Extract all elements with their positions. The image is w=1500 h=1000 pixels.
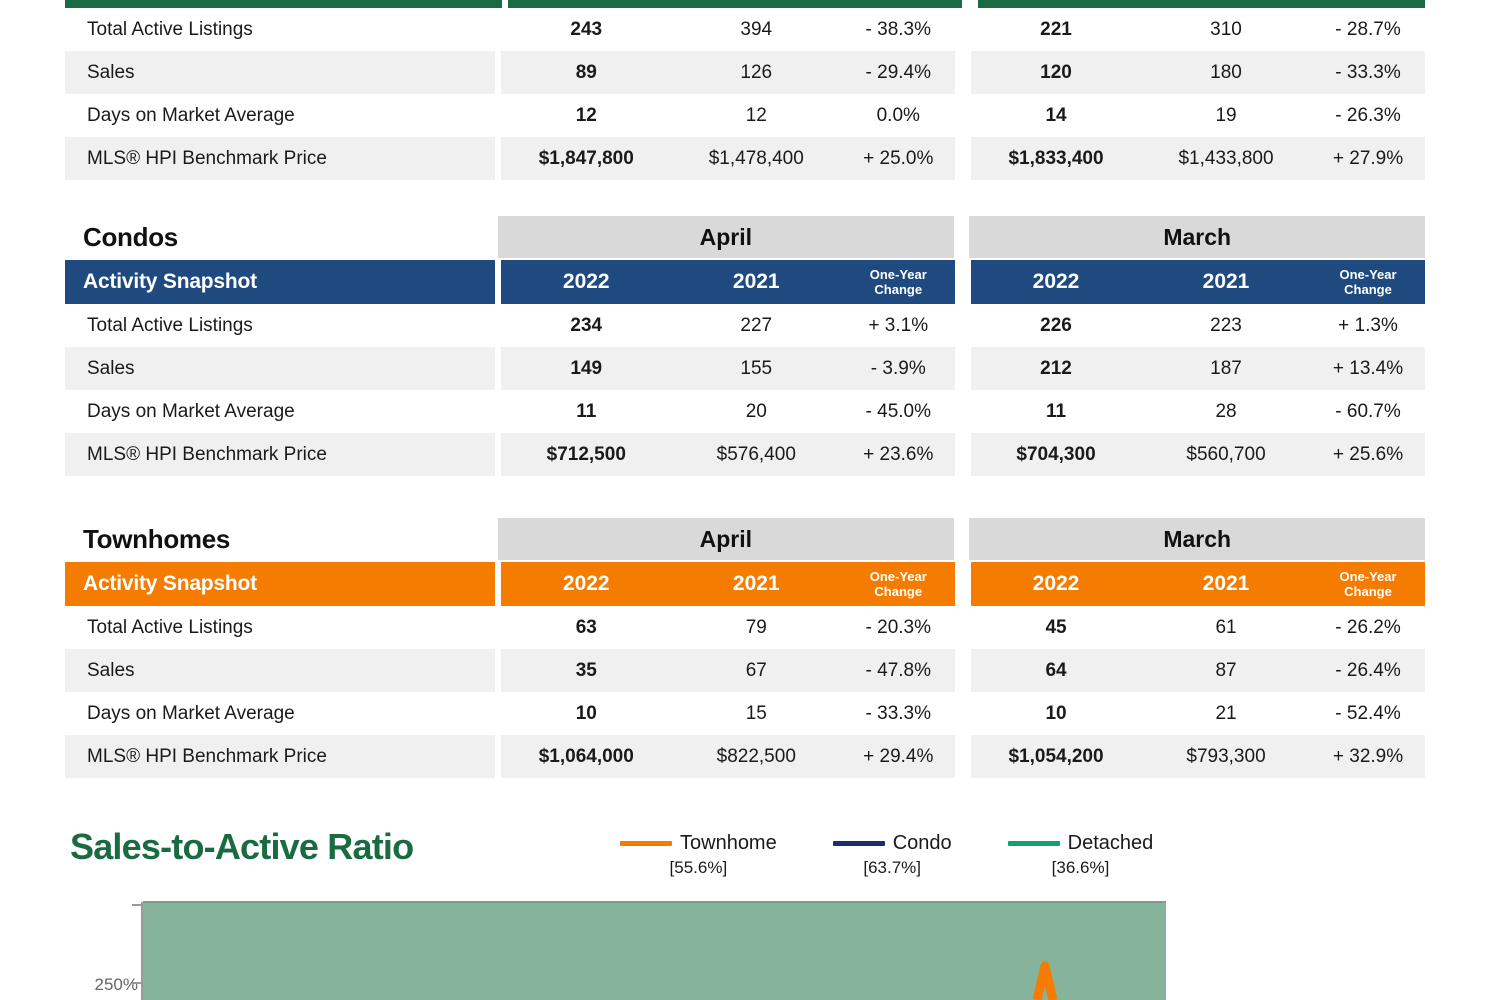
header-year-current: 2022 (971, 562, 1141, 606)
cell-current: 45 (971, 606, 1141, 649)
cell-prior: $560,700 (1141, 433, 1311, 476)
header-year-current: 2022 (501, 562, 671, 606)
table-row: MLS® HPI Benchmark Price $1,847,800 $1,4… (65, 137, 1425, 180)
table-row: Total Active Listings 243 394 - 38.3% 22… (65, 8, 1425, 51)
change-line-2: Change (874, 282, 922, 297)
cell-current: $1,833,400 (971, 137, 1141, 180)
legend-label: Townhome (680, 832, 777, 855)
cell-change: + 3.1% (841, 304, 955, 347)
row-metric-label: Total Active Listings (65, 8, 495, 51)
cell-change: - 26.4% (1311, 649, 1425, 692)
cell-current: 14 (971, 94, 1141, 137)
cell-current: 149 (501, 347, 671, 390)
cell-change: + 32.9% (1311, 735, 1425, 778)
table-mid-gap (955, 137, 971, 180)
cell-prior: 227 (671, 304, 841, 347)
april-cells: 234 227 + 3.1% (501, 304, 955, 347)
march-cells: $1,833,400 $1,433,800 + 27.9% (971, 137, 1425, 180)
table-mid-gap (955, 347, 971, 390)
cell-prior: 310 (1141, 8, 1311, 51)
cell-current: 11 (971, 390, 1141, 433)
march-header-cells: 2022 2021 One-Year Change (971, 562, 1425, 606)
chart-title: Sales-to-Active Ratio (70, 826, 413, 868)
row-metric-label: Days on Market Average (65, 94, 495, 137)
cell-prior: 87 (1141, 649, 1311, 692)
april-cells: 243 394 - 38.3% (501, 8, 955, 51)
table-row: Days on Market Average 10 15 - 33.3% 10 … (65, 692, 1425, 735)
area-fill-detached (143, 902, 1166, 1000)
cell-current: 35 (501, 649, 671, 692)
cell-prior: $793,300 (1141, 735, 1311, 778)
march-cells: $1,054,200 $793,300 + 32.9% (971, 735, 1425, 778)
april-cells: $712,500 $576,400 + 23.6% (501, 433, 955, 476)
header-change: One-Year Change (841, 562, 955, 606)
cell-current: 64 (971, 649, 1141, 692)
legend-value: [55.6%] (670, 858, 728, 878)
table-row: Total Active Listings 234 227 + 3.1% 226… (65, 304, 1425, 347)
chart-plot-area: 250% 200% (0, 890, 1500, 1000)
cell-change: - 20.3% (841, 606, 955, 649)
header-year-current: 2022 (501, 260, 671, 304)
cell-change: - 3.9% (841, 347, 955, 390)
row-metric-label: Sales (65, 649, 495, 692)
table-row: Days on Market Average 11 20 - 45.0% 11 … (65, 390, 1425, 433)
month-band-march: March (969, 518, 1425, 560)
band-gap (954, 518, 970, 560)
cell-current: $712,500 (501, 433, 671, 476)
detached-rows: Total Active Listings 243 394 - 38.3% 22… (65, 8, 1425, 180)
condos-table: Condos April March Activity Snapshot 202… (65, 216, 1425, 476)
table-mid-gap (955, 649, 971, 692)
townhomes-section-head: Townhomes April March (65, 518, 1425, 560)
legend-line-townhome-icon (620, 841, 672, 846)
cell-change: + 29.4% (841, 735, 955, 778)
cell-prior: 61 (1141, 606, 1311, 649)
header-change: One-Year Change (841, 260, 955, 304)
cell-current: 89 (501, 51, 671, 94)
chart-svg (0, 890, 1500, 1000)
cell-current: $1,064,000 (501, 735, 671, 778)
table-mid-gap (955, 94, 971, 137)
cell-change: - 38.3% (841, 8, 955, 51)
band-gap (954, 216, 970, 258)
table-mid-gap (955, 562, 971, 606)
cell-prior: 394 (671, 8, 841, 51)
cell-prior: 180 (1141, 51, 1311, 94)
april-cells: 89 126 - 29.4% (501, 51, 955, 94)
row-metric-label: MLS® HPI Benchmark Price (65, 433, 495, 476)
cell-prior: 28 (1141, 390, 1311, 433)
cell-prior: $576,400 (671, 433, 841, 476)
march-cells: $704,300 $560,700 + 25.6% (971, 433, 1425, 476)
legend-value: [63.7%] (863, 858, 921, 878)
header-year-current: 2022 (971, 260, 1141, 304)
cell-prior: 223 (1141, 304, 1311, 347)
cell-current: 221 (971, 8, 1141, 51)
cell-current: 12 (501, 94, 671, 137)
row-metric-label: Days on Market Average (65, 692, 495, 735)
y-axis-tick-250: 250% (58, 975, 138, 995)
row-metric-label: MLS® HPI Benchmark Price (65, 137, 495, 180)
change-line-1: One-Year (1339, 569, 1396, 584)
legend-item-detached[interactable]: Detached [36.6%] (1008, 832, 1154, 878)
cell-change: - 29.4% (841, 51, 955, 94)
change-line-1: One-Year (1339, 267, 1396, 282)
header-change: One-Year Change (1311, 562, 1425, 606)
change-line-2: Change (874, 584, 922, 599)
y-axis-line (141, 902, 143, 1000)
cell-prior: 126 (671, 51, 841, 94)
table-mid-gap (955, 51, 971, 94)
cell-change: - 45.0% (841, 390, 955, 433)
change-line-2: Change (1344, 282, 1392, 297)
cell-prior: 12 (671, 94, 841, 137)
cell-change: - 52.4% (1311, 692, 1425, 735)
table-mid-gap (955, 433, 971, 476)
row-metric-label: Sales (65, 51, 495, 94)
condos-rows: Total Active Listings 234 227 + 3.1% 226… (65, 304, 1425, 476)
sales-to-active-ratio-chart: Sales-to-Active Ratio Townhome [55.6%] C… (0, 812, 1500, 1000)
legend-label: Condo (893, 832, 952, 855)
march-cells: 221 310 - 28.7% (971, 8, 1425, 51)
market-report-page: Total Active Listings 243 394 - 38.3% 22… (0, 0, 1500, 1000)
legend-item-townhome[interactable]: Townhome [55.6%] (620, 832, 777, 878)
cell-current: 10 (971, 692, 1141, 735)
detached-header-april-fill (508, 0, 962, 8)
row-metric-label: Total Active Listings (65, 606, 495, 649)
table-mid-gap (955, 8, 971, 51)
cell-change: - 47.8% (841, 649, 955, 692)
cell-prior: 79 (671, 606, 841, 649)
table-mid-gap (955, 735, 971, 778)
cell-prior: $822,500 (671, 735, 841, 778)
table-row: Sales 35 67 - 47.8% 64 87 - 26.4% (65, 649, 1425, 692)
cell-change: + 13.4% (1311, 347, 1425, 390)
month-band-april: April (498, 216, 954, 258)
cell-change: - 33.3% (1311, 51, 1425, 94)
cell-prior: 20 (671, 390, 841, 433)
table-mid-gap (955, 304, 971, 347)
tick-mark-200 (132, 982, 141, 984)
cell-prior: $1,433,800 (1141, 137, 1311, 180)
cell-change: + 25.6% (1311, 433, 1425, 476)
cell-current: 212 (971, 347, 1141, 390)
month-band-march: March (969, 216, 1425, 258)
march-cells: 226 223 + 1.3% (971, 304, 1425, 347)
header-change: One-Year Change (1311, 260, 1425, 304)
cell-current: 226 (971, 304, 1141, 347)
change-line-2: Change (1344, 584, 1392, 599)
april-cells: 149 155 - 3.9% (501, 347, 955, 390)
cell-change: + 25.0% (841, 137, 955, 180)
activity-snapshot-label: Activity Snapshot (65, 260, 495, 304)
header-mid-gap (962, 0, 978, 8)
legend-value: [36.6%] (1052, 858, 1110, 878)
march-cells: 14 19 - 26.3% (971, 94, 1425, 137)
cell-current: 11 (501, 390, 671, 433)
legend-item-condo[interactable]: Condo [63.7%] (833, 832, 952, 878)
cell-current: 10 (501, 692, 671, 735)
table-mid-gap (955, 390, 971, 433)
april-cells: $1,064,000 $822,500 + 29.4% (501, 735, 955, 778)
change-line-1: One-Year (870, 569, 927, 584)
cell-current: 63 (501, 606, 671, 649)
row-metric-label: MLS® HPI Benchmark Price (65, 735, 495, 778)
table-row: Days on Market Average 12 12 0.0% 14 19 … (65, 94, 1425, 137)
cell-change: + 27.9% (1311, 137, 1425, 180)
cell-change: - 26.3% (1311, 94, 1425, 137)
cell-prior: $1,478,400 (671, 137, 841, 180)
april-header-cells: 2022 2021 One-Year Change (501, 260, 955, 304)
row-metric-label: Total Active Listings (65, 304, 495, 347)
table-mid-gap (955, 692, 971, 735)
header-year-prior: 2021 (1141, 260, 1311, 304)
townhomes-header-row: Activity Snapshot 2022 2021 One-Year Cha… (65, 562, 1425, 606)
cell-change: 0.0% (841, 94, 955, 137)
march-cells: 212 187 + 13.4% (971, 347, 1425, 390)
condos-title: Condos (65, 216, 498, 258)
activity-snapshot-label: Activity Snapshot (65, 562, 495, 606)
cell-current: $704,300 (971, 433, 1141, 476)
april-cells: 12 12 0.0% (501, 94, 955, 137)
detached-header-label-fill (65, 0, 502, 8)
townhomes-title: Townhomes (65, 518, 498, 560)
april-cells: 63 79 - 20.3% (501, 606, 955, 649)
detached-header-march-fill (978, 0, 1425, 8)
cell-prior: 21 (1141, 692, 1311, 735)
condos-header-row: Activity Snapshot 2022 2021 One-Year Cha… (65, 260, 1425, 304)
table-row: Total Active Listings 63 79 - 20.3% 45 6… (65, 606, 1425, 649)
legend-condo-top: Condo (833, 832, 952, 855)
table-row: Sales 149 155 - 3.9% 212 187 + 13.4% (65, 347, 1425, 390)
cell-change: + 1.3% (1311, 304, 1425, 347)
april-cells: $1,847,800 $1,478,400 + 25.0% (501, 137, 955, 180)
table-mid-gap (955, 260, 971, 304)
townhomes-rows: Total Active Listings 63 79 - 20.3% 45 6… (65, 606, 1425, 778)
cell-prior: 15 (671, 692, 841, 735)
legend-detached-top: Detached (1008, 832, 1154, 855)
march-cells: 120 180 - 33.3% (971, 51, 1425, 94)
row-metric-label: Days on Market Average (65, 390, 495, 433)
month-band-april: April (498, 518, 954, 560)
march-cells: 11 28 - 60.7% (971, 390, 1425, 433)
march-cells: 64 87 - 26.4% (971, 649, 1425, 692)
cell-prior: 67 (671, 649, 841, 692)
cell-change: - 26.2% (1311, 606, 1425, 649)
cell-current: $1,054,200 (971, 735, 1141, 778)
april-cells: 11 20 - 45.0% (501, 390, 955, 433)
header-year-prior: 2021 (671, 562, 841, 606)
april-header-cells: 2022 2021 One-Year Change (501, 562, 955, 606)
cell-prior: 155 (671, 347, 841, 390)
cell-current: $1,847,800 (501, 137, 671, 180)
change-line-1: One-Year (870, 267, 927, 282)
table-mid-gap (955, 606, 971, 649)
table-row: MLS® HPI Benchmark Price $712,500 $576,4… (65, 433, 1425, 476)
chart-legend: Townhome [55.6%] Condo [63.7%] Detached … (620, 832, 1153, 878)
legend-line-detached-icon (1008, 841, 1060, 846)
legend-townhome-top: Townhome (620, 832, 777, 855)
header-year-prior: 2021 (671, 260, 841, 304)
condos-section-head: Condos April March (65, 216, 1425, 258)
april-cells: 10 15 - 33.3% (501, 692, 955, 735)
cell-current: 120 (971, 51, 1141, 94)
row-metric-label: Sales (65, 347, 495, 390)
cell-change: - 60.7% (1311, 390, 1425, 433)
cell-prior: 187 (1141, 347, 1311, 390)
townhomes-table: Townhomes April March Activity Snapshot … (65, 518, 1425, 778)
legend-line-condo-icon (833, 841, 885, 846)
header-year-prior: 2021 (1141, 562, 1311, 606)
detached-header-bar (65, 0, 1425, 8)
cell-current: 234 (501, 304, 671, 347)
march-cells: 45 61 - 26.2% (971, 606, 1425, 649)
april-cells: 35 67 - 47.8% (501, 649, 955, 692)
cell-change: + 23.6% (841, 433, 955, 476)
march-cells: 10 21 - 52.4% (971, 692, 1425, 735)
cell-change: - 33.3% (841, 692, 955, 735)
legend-label: Detached (1068, 832, 1154, 855)
tick-mark-250 (132, 904, 141, 906)
table-row: MLS® HPI Benchmark Price $1,064,000 $822… (65, 735, 1425, 778)
cell-current: 243 (501, 8, 671, 51)
table-row: Sales 89 126 - 29.4% 120 180 - 33.3% (65, 51, 1425, 94)
cell-change: - 28.7% (1311, 8, 1425, 51)
march-header-cells: 2022 2021 One-Year Change (971, 260, 1425, 304)
detached-header-strip (65, 0, 1425, 8)
cell-prior: 19 (1141, 94, 1311, 137)
detached-table: Total Active Listings 243 394 - 38.3% 22… (65, 8, 1425, 180)
